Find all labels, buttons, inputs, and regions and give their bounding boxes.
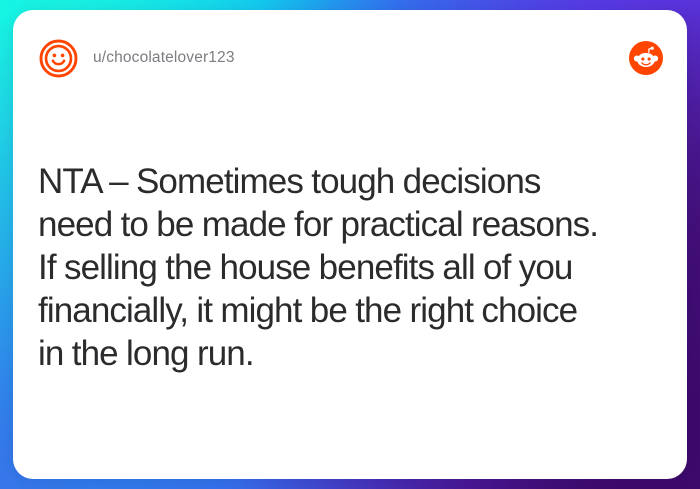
post-author-username[interactable]: u/chocolatelover123 bbox=[93, 49, 235, 67]
reddit-snoo-icon[interactable] bbox=[629, 41, 663, 75]
gradient-background: u/chocolatelover123 NTA – Sometimes toug bbox=[0, 0, 700, 489]
post-header: u/chocolatelover123 bbox=[13, 10, 687, 106]
post-body-text: NTA – Sometimes tough decisions need to … bbox=[38, 160, 665, 375]
smiley-face-avatar-icon[interactable] bbox=[38, 38, 79, 79]
reddit-post-card: u/chocolatelover123 NTA – Sometimes toug bbox=[13, 10, 687, 479]
